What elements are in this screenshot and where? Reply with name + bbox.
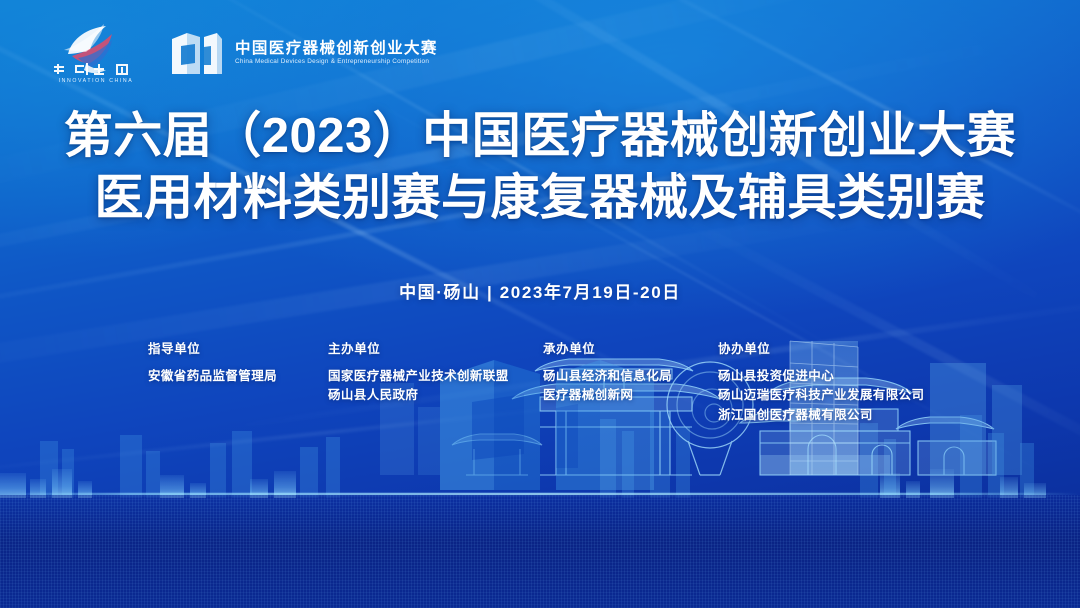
event-location-date: 中国·砀山 | 2023年7月19日-20日 xyxy=(0,278,1080,303)
header-logos: INNOVATION CHINA 中国医疗器械创新创业大赛 China Medi… xyxy=(44,22,438,84)
organizer-column-coorganizer: 协办单位 砀山县投资促进中心 砀山迈瑞医疗科技产业发展有限公司 浙江国创医疗器械… xyxy=(718,343,978,426)
organizer-unit: 安徽省药品监督管理局 xyxy=(148,367,328,387)
poster-banner: INNOVATION CHINA 中国医疗器械创新创业大赛 China Medi… xyxy=(0,0,1080,608)
organizer-unit: 浙江国创医疗器械有限公司 xyxy=(718,406,978,426)
organizer-unit: 国家医疗器械产业技术创新联盟 xyxy=(328,367,543,387)
innovation-china-en: INNOVATION CHINA xyxy=(59,78,134,84)
organizer-role: 承办单位 xyxy=(543,343,718,356)
competition-logo: 中国医疗器械创新创业大赛 China Medical Devices Desig… xyxy=(170,29,438,77)
organizer-unit: 砀山县投资促进中心 xyxy=(718,367,978,387)
organizer-unit: 砀山县经济和信息化局 xyxy=(543,367,718,387)
organizer-column-guidance: 指导单位 安徽省药品监督管理局 xyxy=(148,343,328,426)
organizer-role: 指导单位 xyxy=(148,343,328,356)
organizer-role: 协办单位 xyxy=(718,343,978,356)
organizer-unit: 砀山迈瑞医疗科技产业发展有限公司 xyxy=(718,386,978,406)
organizer-role: 主办单位 xyxy=(328,343,543,356)
organizer-column-host: 主办单位 国家医疗器械产业技术创新联盟 砀山县人民政府 xyxy=(328,343,543,426)
page-title: 第六届（2023）中国医疗器械创新创业大赛 医用材料类别赛与康复器械及辅具类别赛 xyxy=(0,106,1080,229)
competition-name-en: China Medical Devices Design & Entrepren… xyxy=(235,59,438,65)
organizer-column-organizer: 承办单位 砀山县经济和信息化局 医疗器械创新网 xyxy=(543,343,718,426)
open-door-competition-mark xyxy=(170,29,224,77)
title-line-1: 第六届（2023）中国医疗器械创新创业大赛 xyxy=(0,106,1080,168)
innovation-china-logo: INNOVATION CHINA xyxy=(44,22,148,84)
title-line-2: 医用材料类别赛与康复器械及辅具类别赛 xyxy=(0,168,1080,230)
light-streaks-layer xyxy=(0,0,1080,608)
water-reflection xyxy=(0,495,1080,608)
innovation-china-bird-logo: INNOVATION CHINA xyxy=(44,22,148,84)
organizer-unit: 砀山县人民政府 xyxy=(328,386,543,406)
organizers-section: 指导单位 安徽省药品监督管理局 主办单位 国家医疗器械产业技术创新联盟 砀山县人… xyxy=(0,343,1080,426)
competition-name-cn: 中国医疗器械创新创业大赛 xyxy=(235,41,438,57)
horizon-glow xyxy=(0,493,1080,495)
organizer-unit: 医疗器械创新网 xyxy=(543,386,718,406)
